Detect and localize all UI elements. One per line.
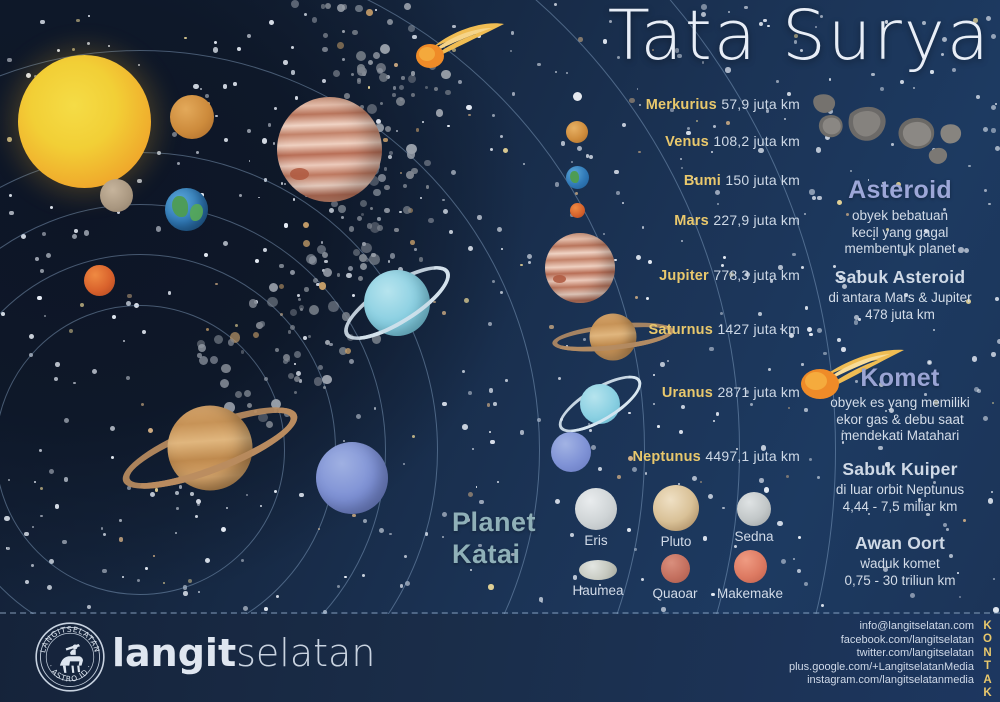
eris-icon — [575, 488, 617, 530]
asteroid-desc-line-3: membentuk planet — [800, 241, 1000, 258]
kontak-vertical-label: KONTAK — [980, 620, 996, 700]
planet-name: Neptunus — [632, 449, 700, 465]
infographic-poster: Tata Surya Merkurius 57,9 juta km Venus … — [0, 0, 1000, 702]
dwarf-planet-makemake: Makemake — [710, 550, 790, 601]
planet-distance: 57,9 juta km — [721, 96, 800, 112]
planet-name: Merkurius — [646, 97, 717, 113]
planet-row: Venus 108,2 juta km — [665, 133, 800, 151]
awan-oort-line-1: waduk komet — [800, 556, 1000, 573]
contact-list: info@langitselatan.com facebook.com/lang… — [789, 620, 974, 688]
dwarf-planet-label: Eris — [556, 533, 636, 548]
planet-name: Bumi — [684, 173, 721, 189]
dwarf-planet-label: Sedna — [714, 529, 794, 544]
planet-distance: 150 juta km — [725, 172, 800, 188]
asteroid-heading: Asteroid — [800, 176, 1000, 205]
planet-distance: 108,2 juta km — [713, 133, 800, 149]
sabuk-kuiper-line-1: di luar orbit Neptunus — [800, 482, 1000, 499]
sedna-icon — [737, 492, 771, 526]
sabuk-asteroid-heading: Sabuk Asteroid — [800, 267, 1000, 288]
planet-row: Saturnus 1427 juta km — [649, 321, 800, 339]
dwarf-planet-sedna: Sedna — [714, 492, 794, 544]
contact-googleplus[interactable]: plus.google.com/+LangitselatanMedia — [789, 661, 974, 675]
sabuk-asteroid-line-1: di antara Mars & Jupiter — [800, 290, 1000, 307]
komet-section: Komet obyek es yang memiliki ekor gas & … — [800, 364, 1000, 445]
pluto-icon — [653, 485, 699, 531]
page-title: Tata Surya — [566, 0, 991, 76]
komet-desc-line-1: obyek es yang memiliki — [800, 395, 1000, 412]
planet-name: Uranus — [662, 385, 713, 401]
scale-jupiter-red-spot — [553, 275, 566, 283]
dwarf-planet-quaoar: Quaoar — [635, 554, 715, 601]
sabuk-kuiper-heading: Sabuk Kuiper — [800, 459, 1000, 480]
scale-neptune — [551, 432, 591, 472]
asteroid-desc-line-2: kecil yang gagal — [800, 225, 1000, 242]
diagram-neptune — [316, 442, 388, 514]
scale-earth-land — [570, 171, 579, 183]
planet-name: Jupiter — [659, 268, 709, 284]
planet-row: Merkurius 57,9 juta km — [646, 96, 800, 114]
scale-uranus — [545, 371, 655, 437]
dwarf-planet-label: Haumea — [558, 583, 638, 598]
svg-text:LANGITSELATAN: LANGITSELATAN — [38, 625, 102, 654]
asteroid-cluster-icon — [812, 92, 992, 174]
dwarf-heading-line-2: Katai — [452, 538, 536, 570]
planet-row: Bumi 150 juta km — [684, 172, 800, 190]
komet-desc-line-2: ekor gas & debu saat — [800, 412, 1000, 429]
planet-distance: 1427 juta km — [717, 321, 800, 337]
dwarf-planet-label: Quaoar — [635, 586, 715, 601]
scale-jupiter — [545, 233, 615, 303]
scale-mars — [570, 203, 585, 218]
asteroid-section: Asteroid obyek bebatuan kecil yang gagal… — [800, 176, 1000, 258]
sun-illustration — [18, 55, 151, 188]
planet-name: Saturnus — [649, 322, 713, 338]
dwarf-heading-line-1: Planet — [452, 506, 536, 538]
planet-name: Venus — [665, 134, 709, 150]
diagram-earth-land — [172, 196, 188, 217]
planet-distance: 4497,1 juta km — [705, 448, 800, 464]
sabuk-asteroid-text: di antara Mars & Jupiter 478 juta km — [800, 290, 1000, 323]
svg-text:· ASTRO.ID ·: · ASTRO.ID · — [46, 663, 94, 684]
diagram-mars — [84, 265, 115, 296]
diagram-saturn — [110, 378, 310, 518]
contact-facebook[interactable]: facebook.com/langitselatan — [789, 634, 974, 648]
dwarf-planet-pluto: Pluto — [636, 485, 716, 549]
dwarf-planets-heading: Planet Katai — [452, 506, 536, 570]
brand-bold: langit — [112, 631, 236, 675]
quaoar-icon — [661, 554, 690, 583]
brand-wordmark: langitselatan — [112, 634, 375, 672]
komet-description: obyek es yang memiliki ekor gas & debu s… — [800, 395, 1000, 445]
sabuk-kuiper-line-2: 4,44 - 7,5 miliar km — [800, 499, 1000, 516]
planet-distance: 2871 juta km — [717, 384, 800, 400]
komet-desc-line-3: mendekati Matahari — [800, 428, 1000, 445]
awan-oort-line-2: 0,75 - 30 triliun km — [800, 573, 1000, 590]
awan-oort-text: waduk komet 0,75 - 30 triliun km — [800, 556, 1000, 589]
planet-name: Mars — [674, 213, 709, 229]
seal-bottom-text: · ASTRO.ID · — [46, 663, 94, 684]
contact-instagram[interactable]: instagram.com/langitselatanmedia — [789, 674, 974, 688]
diagram-comet-icon — [410, 18, 508, 68]
planet-row: Jupiter 778,3 juta km — [659, 267, 800, 285]
planet-distance: 227,9 juta km — [713, 212, 800, 228]
footer-divider — [0, 612, 1000, 614]
scale-mercury — [573, 92, 582, 101]
planet-row: Uranus 2871 juta km — [662, 384, 800, 402]
dwarf-planet-haumea: Haumea — [558, 560, 638, 598]
scale-venus — [566, 121, 588, 143]
diagram-jupiter-red-spot — [290, 168, 309, 180]
seal-top-text: LANGITSELATAN — [38, 625, 102, 654]
brand-light: selatan — [236, 631, 375, 675]
planet-row: Mars 227,9 juta km — [674, 212, 800, 230]
awan-oort-heading: Awan Oort — [800, 533, 1000, 554]
planet-row: Neptunus 4497,1 juta km — [632, 448, 800, 466]
sabuk-asteroid-line-2: 478 juta km — [800, 307, 1000, 324]
contact-twitter[interactable]: twitter.com/langitselatan — [789, 647, 974, 661]
diagram-mercury — [100, 179, 133, 212]
contact-email[interactable]: info@langitselatan.com — [789, 620, 974, 634]
sabuk-kuiper-text: di luar orbit Neptunus 4,44 - 7,5 miliar… — [800, 482, 1000, 515]
haumea-icon — [579, 560, 617, 580]
asteroid-description: obyek bebatuan kecil yang gagal membentu… — [800, 208, 1000, 258]
komet-heading: Komet — [800, 364, 1000, 393]
dwarf-planet-label: Makemake — [710, 586, 790, 601]
planet-distance: 778,3 juta km — [713, 267, 800, 283]
dwarf-planet-label: Pluto — [636, 534, 716, 549]
langitselatan-seal-logo: LANGITSELATAN · ASTRO.ID · — [34, 621, 106, 693]
sabuk-asteroid-section: Sabuk Asteroid di antara Mars & Jupiter … — [800, 267, 1000, 323]
asteroid-desc-line-1: obyek bebatuan — [800, 208, 1000, 225]
sabuk-kuiper-section: Sabuk Kuiper di luar orbit Neptunus 4,44… — [800, 459, 1000, 515]
diagram-venus — [170, 95, 214, 139]
makemake-icon — [734, 550, 767, 583]
seal-centaur-figure — [60, 644, 83, 673]
dwarf-planet-eris: Eris — [556, 488, 636, 548]
diagram-jupiter — [277, 97, 382, 202]
diagram-uranus — [332, 248, 462, 358]
awan-oort-section: Awan Oort waduk komet 0,75 - 30 triliun … — [800, 533, 1000, 589]
